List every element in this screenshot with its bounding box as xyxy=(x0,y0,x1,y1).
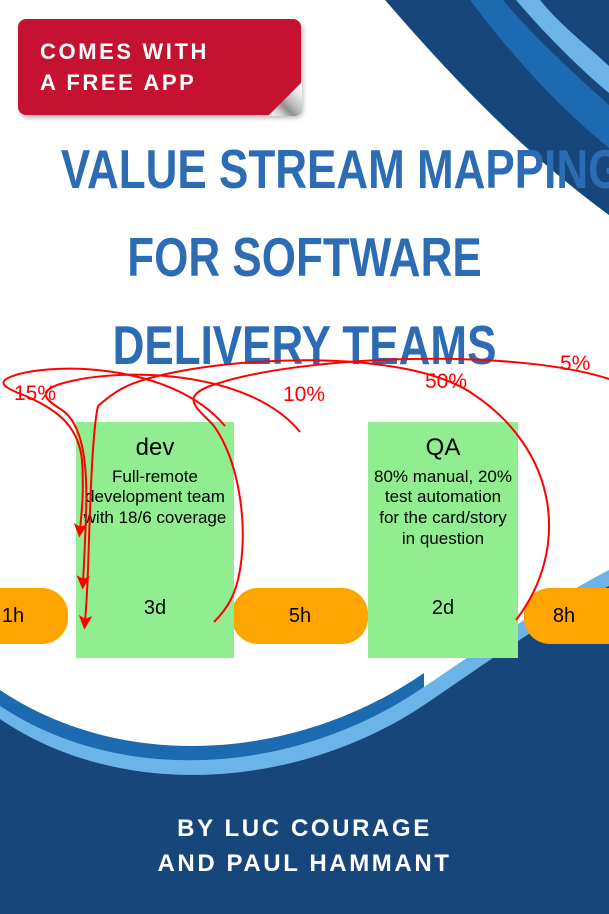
rework-label-5: 5% xyxy=(560,352,590,376)
author-line-1: BY LUC COURAGE xyxy=(0,812,609,847)
author-line-2: AND PAUL HAMMANT xyxy=(0,847,609,882)
rework-label-50: 50% xyxy=(425,370,467,394)
title-line-1: VALUE STREAM MAPPING xyxy=(61,125,548,213)
badge-line-1: COMES WITH xyxy=(40,36,301,67)
value-stream-map-diagram: 1h 5h 8h dev Full-remote development tea… xyxy=(0,340,609,660)
author-credits: BY LUC COURAGE AND PAUL HAMMANT xyxy=(0,812,609,882)
title-line-2: FOR SOFTWARE xyxy=(61,213,548,301)
rework-label-10: 10% xyxy=(283,383,325,407)
badge-line-2: A FREE APP xyxy=(40,67,301,98)
free-app-badge: COMES WITH A FREE APP xyxy=(18,19,301,115)
badge-text: COMES WITH A FREE APP xyxy=(18,19,301,115)
book-cover: COMES WITH A FREE APP VALUE STREAM MAPPI… xyxy=(0,0,609,914)
rework-label-15: 15% xyxy=(14,382,56,406)
